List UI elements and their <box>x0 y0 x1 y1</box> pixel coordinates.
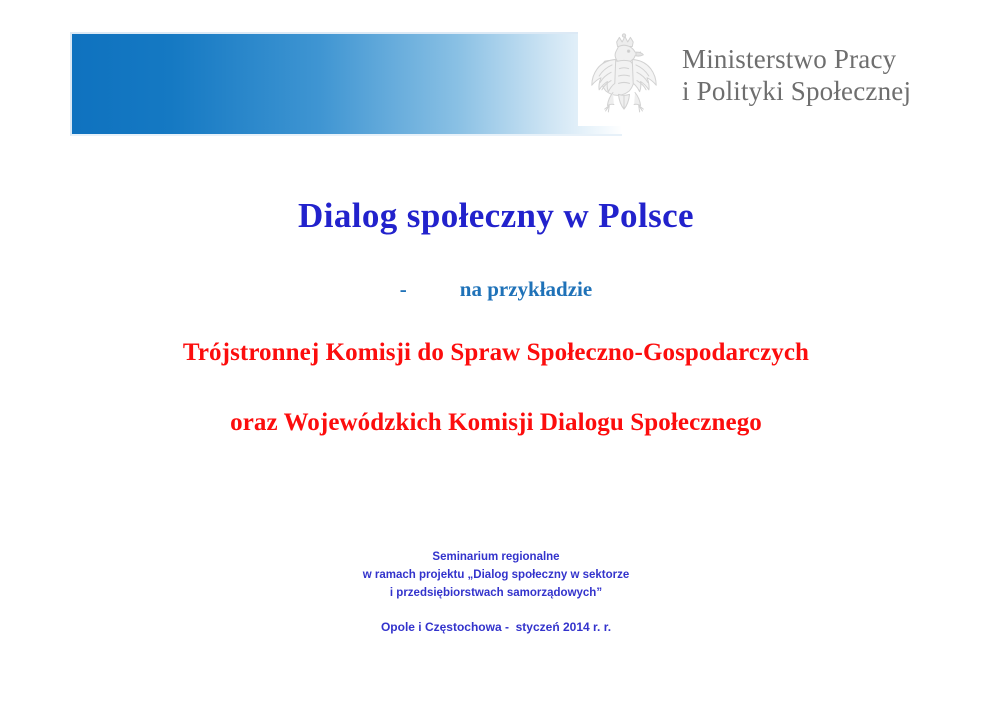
ministry-name-text: Ministerstwo Pracy i Polityki Społecznej <box>682 44 911 108</box>
seminar-line-1: Seminarium regionalne <box>0 549 992 567</box>
subtitle-row: -na przykładzie <box>0 277 992 302</box>
page-title: Dialog społeczny w Polsce <box>0 196 992 236</box>
seminar-info: Seminarium regionalne w ramach projektu … <box>0 549 992 602</box>
committee-name-primary: Trójstronnej Komisji do Spraw Społeczno-… <box>0 339 992 367</box>
ministry-logo: Ministerstwo Pracy i Polityki Społecznej <box>578 26 938 126</box>
committee-name-secondary: oraz Wojewódzkich Komisji Dialogu Społec… <box>0 409 992 437</box>
seminar-line-2: w ramach projektu „Dialog społeczny w se… <box>0 567 992 585</box>
seminar-line-3: i przedsiębiorstwach samorządowych” <box>0 585 992 603</box>
header-gradient-band <box>70 32 622 136</box>
event-location-date: Opole i Częstochowa - styczeń 2014 r. r. <box>0 620 992 634</box>
subtitle-text: na przykładzie <box>460 277 592 301</box>
polish-eagle-emblem <box>578 28 670 124</box>
subtitle-dash: - <box>400 277 460 302</box>
